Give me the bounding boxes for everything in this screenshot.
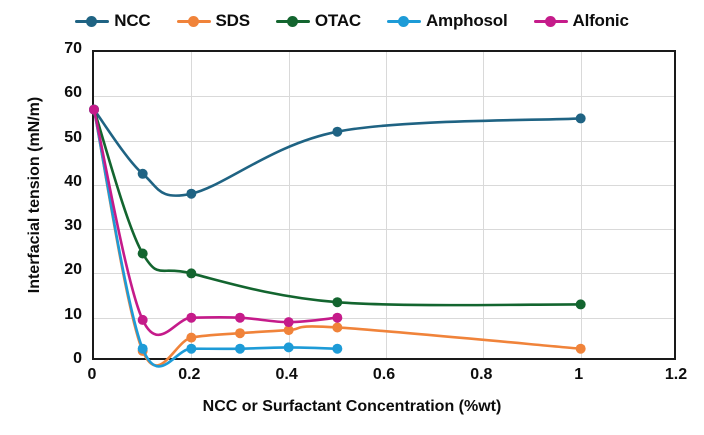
series-ncc <box>89 105 586 199</box>
data-point-marker[interactable] <box>138 169 148 179</box>
legend-label: Amphosol <box>426 11 508 31</box>
data-point-marker[interactable] <box>235 313 245 323</box>
data-point-marker[interactable] <box>284 342 294 352</box>
legend-item-sds[interactable]: SDS <box>177 11 250 31</box>
legend-swatch-icon <box>177 14 211 28</box>
legend-label: NCC <box>114 11 150 31</box>
data-point-marker[interactable] <box>332 297 342 307</box>
data-point-marker[interactable] <box>235 328 245 338</box>
y-tick-text: 10 <box>64 306 82 324</box>
x-axis-title: NCC or Surfactant Concentration (%wt) <box>0 398 704 416</box>
y-tick-text: 60 <box>64 84 82 102</box>
data-point-marker[interactable] <box>186 333 196 343</box>
data-point-marker[interactable] <box>138 315 148 325</box>
legend-swatch-icon <box>75 14 109 28</box>
x-tick-text: 0.4 <box>276 366 298 384</box>
series-line <box>94 110 581 196</box>
legend-item-otac[interactable]: OTAC <box>276 11 361 31</box>
chart-legend: NCCSDSOTACAmphosolAlfonic <box>0 6 704 36</box>
series-sds <box>89 105 586 366</box>
data-point-marker[interactable] <box>186 313 196 323</box>
legend-label: Alfonic <box>573 11 629 31</box>
legend-item-ncc[interactable]: NCC <box>75 11 150 31</box>
x-tick-text: 0.8 <box>470 366 492 384</box>
series-line <box>94 110 581 306</box>
legend-label: OTAC <box>315 11 361 31</box>
data-point-marker[interactable] <box>186 268 196 278</box>
line-chart: NCCSDSOTACAmphosolAlfonic 01020304050607… <box>0 0 704 435</box>
series-layer <box>94 52 678 362</box>
data-point-marker[interactable] <box>235 344 245 354</box>
data-point-marker[interactable] <box>138 344 148 354</box>
y-tick-text: 20 <box>64 261 82 279</box>
data-point-marker[interactable] <box>138 249 148 259</box>
legend-label: SDS <box>216 11 250 31</box>
y-tick-text: 40 <box>64 173 82 191</box>
data-point-marker[interactable] <box>332 344 342 354</box>
data-point-marker[interactable] <box>186 189 196 199</box>
data-point-marker[interactable] <box>284 317 294 327</box>
y-tick-text: 70 <box>64 40 82 58</box>
data-point-marker[interactable] <box>332 322 342 332</box>
x-tick-text: 0.2 <box>178 366 200 384</box>
data-point-marker[interactable] <box>332 313 342 323</box>
x-tick-text: 1.2 <box>665 366 687 384</box>
data-point-marker[interactable] <box>576 344 586 354</box>
y-tick-text: 30 <box>64 217 82 235</box>
data-point-marker[interactable] <box>332 127 342 137</box>
plot-area <box>92 50 676 360</box>
y-axis-title: Interfacial tension (mN/m) <box>26 30 44 360</box>
x-tick-text: 0 <box>88 366 97 384</box>
data-point-marker[interactable] <box>576 299 586 309</box>
y-tick-text: 0 <box>73 350 82 368</box>
legend-swatch-icon <box>387 14 421 28</box>
legend-item-amphosol[interactable]: Amphosol <box>387 11 508 31</box>
data-point-marker[interactable] <box>89 105 99 115</box>
legend-swatch-icon <box>534 14 568 28</box>
x-tick-text: 0.6 <box>373 366 395 384</box>
y-tick-text: 50 <box>64 129 82 147</box>
x-tick-text: 1 <box>574 366 583 384</box>
legend-swatch-icon <box>276 14 310 28</box>
data-point-marker[interactable] <box>186 344 196 354</box>
legend-item-alfonic[interactable]: Alfonic <box>534 11 629 31</box>
data-point-marker[interactable] <box>576 113 586 123</box>
